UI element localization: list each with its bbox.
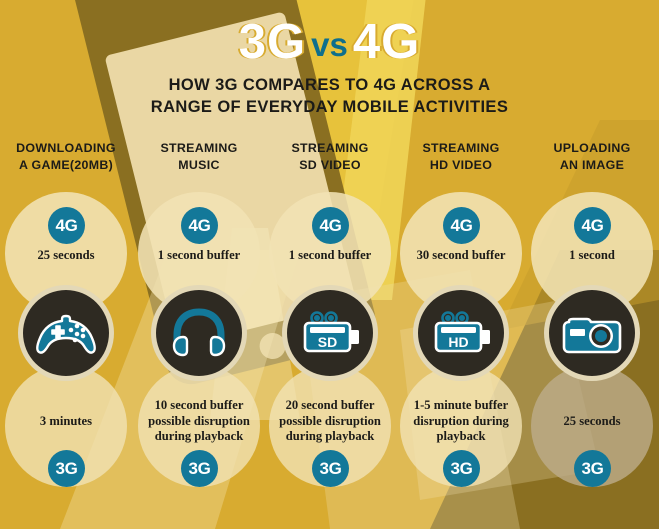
value-4g-line-1: 25 seconds: [0, 248, 132, 264]
badge-4g: 4G: [574, 207, 611, 244]
title-4g: 4G: [353, 16, 420, 68]
column-heading-line-2: SD VIDEO: [264, 157, 396, 174]
icon-circle: [151, 285, 247, 381]
icon-circle: [544, 285, 640, 381]
value-3g-line-1: 3 minutes: [0, 414, 132, 430]
subtitle-line-2: RANGE OF EVERYDAY MOBILE ACTIVITIES: [0, 96, 659, 118]
value-4g-line-1: 30 second buffer: [395, 248, 527, 264]
badge-4g: 4G: [181, 207, 218, 244]
value-3g: 10 second buffer possible disruption dur…: [133, 398, 265, 445]
column-heading-line-2: MUSIC: [133, 157, 265, 174]
title-4g-wrap: 4G: [353, 16, 420, 68]
value-4g-line-1: 1 second buffer: [264, 248, 396, 264]
value-4g: 1 second buffer: [264, 248, 396, 264]
column-heading-line-1: UPLOADING: [526, 140, 658, 157]
badge-4g: 4G: [312, 207, 349, 244]
value-3g-line-3: during playback: [133, 429, 265, 445]
value-4g: 25 seconds: [0, 248, 132, 264]
value-3g-line-2: disruption during: [395, 414, 527, 430]
column-heading-line-1: STREAMING: [264, 140, 396, 157]
badge-4g: 4G: [443, 207, 480, 244]
header: 3G vs 4G HOW 3G COMPARES TO 4G ACROSS A …: [0, 0, 659, 118]
page-title: 3G vs 4G: [0, 16, 659, 68]
badge-3g: 3G: [181, 450, 218, 487]
column-heading: STREAMING HD VIDEO: [395, 140, 527, 174]
headphones-icon: [169, 307, 229, 359]
badge-3g: 3G: [574, 450, 611, 487]
value-4g: 1 second buffer: [133, 248, 265, 264]
icon-circle: HD: [413, 285, 509, 381]
hd-camcorder-icon: HD: [429, 309, 493, 357]
value-4g-line-1: 1 second: [526, 248, 658, 264]
value-4g: 1 second: [526, 248, 658, 264]
value-3g: 1-5 minute buffer disruption during play…: [395, 398, 527, 445]
column-heading: STREAMING SD VIDEO: [264, 140, 396, 174]
sd-camcorder-icon: SD: [298, 309, 362, 357]
column-heading-line-1: STREAMING: [133, 140, 265, 157]
value-3g-line-3: playback: [395, 429, 527, 445]
subtitle-line-1: HOW 3G COMPARES TO 4G ACROSS A: [0, 74, 659, 96]
page-subtitle: HOW 3G COMPARES TO 4G ACROSS A RANGE OF …: [0, 74, 659, 118]
column-heading: UPLOADING AN IMAGE: [526, 140, 658, 174]
svg-text:SD: SD: [318, 334, 337, 350]
value-3g-line-2: possible disruption: [264, 414, 396, 430]
value-4g-line-1: 1 second buffer: [133, 248, 265, 264]
value-3g-line-2: possible disruption: [133, 414, 265, 430]
badge-4g: 4G: [48, 207, 85, 244]
column-heading-line-2: AN IMAGE: [526, 157, 658, 174]
value-3g-line-1: 20 second buffer: [264, 398, 396, 414]
column-heading-line-2: HD VIDEO: [395, 157, 527, 174]
column-heading-line-1: DOWNLOADING: [0, 140, 132, 157]
column-heading-line-1: STREAMING: [395, 140, 527, 157]
value-3g-line-3: during playback: [264, 429, 396, 445]
value-4g: 30 second buffer: [395, 248, 527, 264]
value-3g: 25 seconds: [526, 414, 658, 430]
icon-circle: [18, 285, 114, 381]
value-3g-line-1: 25 seconds: [526, 414, 658, 430]
value-3g-line-1: 10 second buffer: [133, 398, 265, 414]
svg-text:HD: HD: [448, 334, 468, 350]
value-3g: 20 second buffer possible disruption dur…: [264, 398, 396, 445]
badge-3g: 3G: [443, 450, 480, 487]
title-vs: vs: [306, 19, 353, 71]
title-3g: 3G: [239, 16, 306, 68]
title-3g-wrap: 3G: [239, 16, 306, 68]
camera-icon: [560, 311, 624, 355]
value-3g: 3 minutes: [0, 414, 132, 430]
column-heading: STREAMING MUSIC: [133, 140, 265, 174]
badge-3g: 3G: [48, 450, 85, 487]
value-3g-line-1: 1-5 minute buffer: [395, 398, 527, 414]
column-heading: DOWNLOADING A GAME(20MB): [0, 140, 132, 174]
gamepad-icon: [35, 311, 97, 355]
infographic-canvas: 3G vs 4G HOW 3G COMPARES TO 4G ACROSS A …: [0, 0, 659, 529]
column-heading-line-2: A GAME(20MB): [0, 157, 132, 174]
icon-circle: SD: [282, 285, 378, 381]
badge-3g: 3G: [312, 450, 349, 487]
